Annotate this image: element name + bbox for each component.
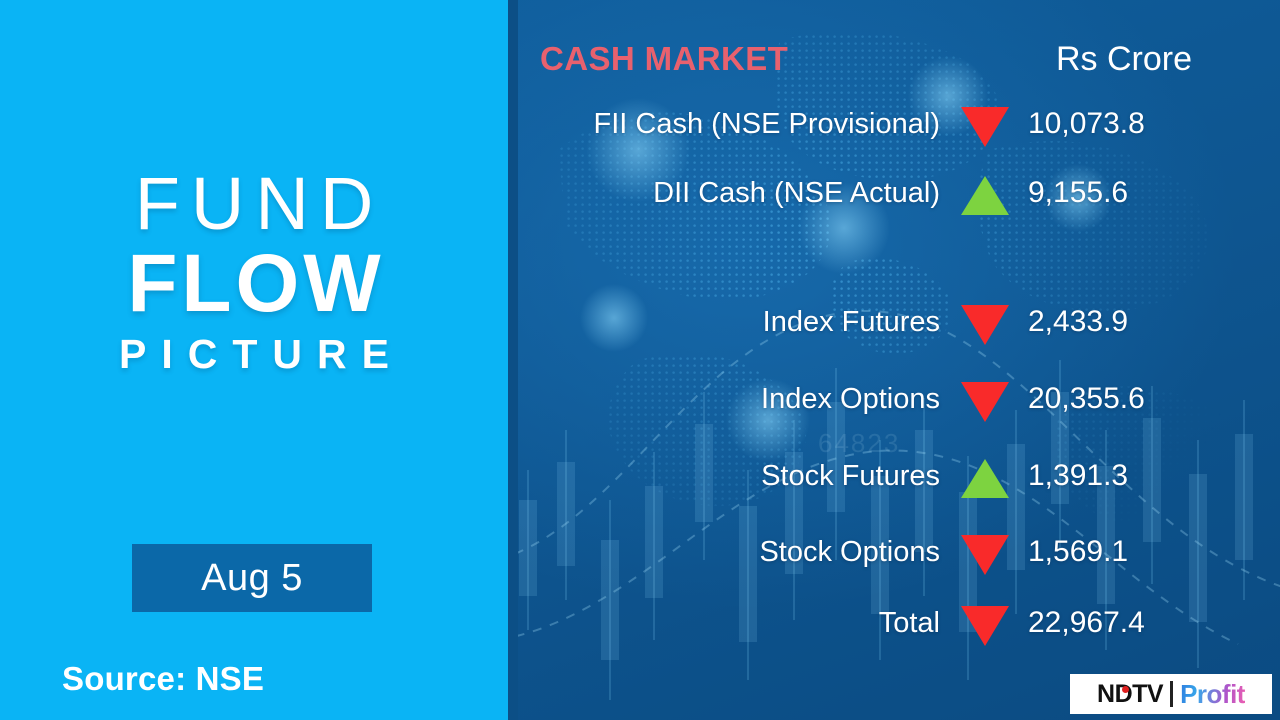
cash-market-title: CASH MARKET (540, 40, 788, 78)
row-value: 20,355.6 (1028, 375, 1145, 423)
brand-line-picture: PICTURE (0, 333, 508, 376)
ndtv-wordmark: NDTV (1097, 680, 1163, 709)
fund-flow-picture-logo: FUND FLOW PICTURE (0, 168, 508, 376)
row-label: Index Options (761, 375, 940, 423)
panel-divider (508, 0, 518, 720)
table-row: Stock Futures 1,391.3 (518, 452, 1280, 500)
row-label: Stock Futures (761, 452, 940, 500)
fund-flow-table: CASH MARKET Rs Crore FII Cash (NSE Provi… (518, 0, 1280, 720)
table-row: FII Cash (NSE Provisional) 10,073.8 (518, 100, 1280, 148)
profit-wordmark: Profit (1180, 679, 1245, 710)
brand-line-flow: FLOW (0, 243, 508, 325)
row-label: DII Cash (NSE Actual) (653, 169, 940, 217)
unit-label: Rs Crore (1056, 40, 1192, 79)
row-label: Index Futures (763, 298, 940, 346)
row-value: 22,967.4 (1028, 599, 1145, 647)
row-label: Total (879, 599, 940, 647)
ndtv-red-dot-icon (1122, 686, 1129, 693)
row-value: 9,155.6 (1028, 169, 1128, 217)
table-row: DII Cash (NSE Actual) 9,155.6 (518, 169, 1280, 217)
row-value: 2,433.9 (1028, 298, 1128, 346)
row-label: FII Cash (NSE Provisional) (594, 100, 941, 148)
ndtv-profit-logo: NDTV Profit (1070, 674, 1272, 714)
row-value: 1,569.1 (1028, 528, 1128, 576)
table-header-row: CASH MARKET Rs Crore (518, 40, 1280, 88)
down-arrow-icon (956, 532, 1014, 576)
row-label: Stock Options (759, 528, 940, 576)
down-arrow-icon (956, 302, 1014, 346)
table-row: Stock Options 1,569.1 (518, 528, 1280, 576)
logo-separator-bar (1170, 681, 1173, 707)
fund-flow-picture-graphic: 64823 CASH MARKET Rs Crore FII Cash (NSE… (0, 0, 1280, 720)
ndtv-text: NDTV (1097, 680, 1163, 708)
table-row: Total 22,967.4 (518, 599, 1280, 647)
up-arrow-icon (956, 173, 1014, 217)
down-arrow-icon (956, 379, 1014, 423)
up-arrow-icon (956, 456, 1014, 500)
branding-panel: FUND FLOW PICTURE Aug 5 Source: NSE (0, 0, 508, 720)
row-value: 10,073.8 (1028, 100, 1145, 148)
table-row: Index Options 20,355.6 (518, 375, 1280, 423)
date-badge: Aug 5 (132, 544, 372, 612)
down-arrow-icon (956, 603, 1014, 647)
row-value: 1,391.3 (1028, 452, 1128, 500)
table-row: Index Futures 2,433.9 (518, 298, 1280, 346)
source-label: Source: NSE (62, 660, 264, 698)
down-arrow-icon (956, 104, 1014, 148)
brand-line-fund: FUND (0, 168, 508, 241)
